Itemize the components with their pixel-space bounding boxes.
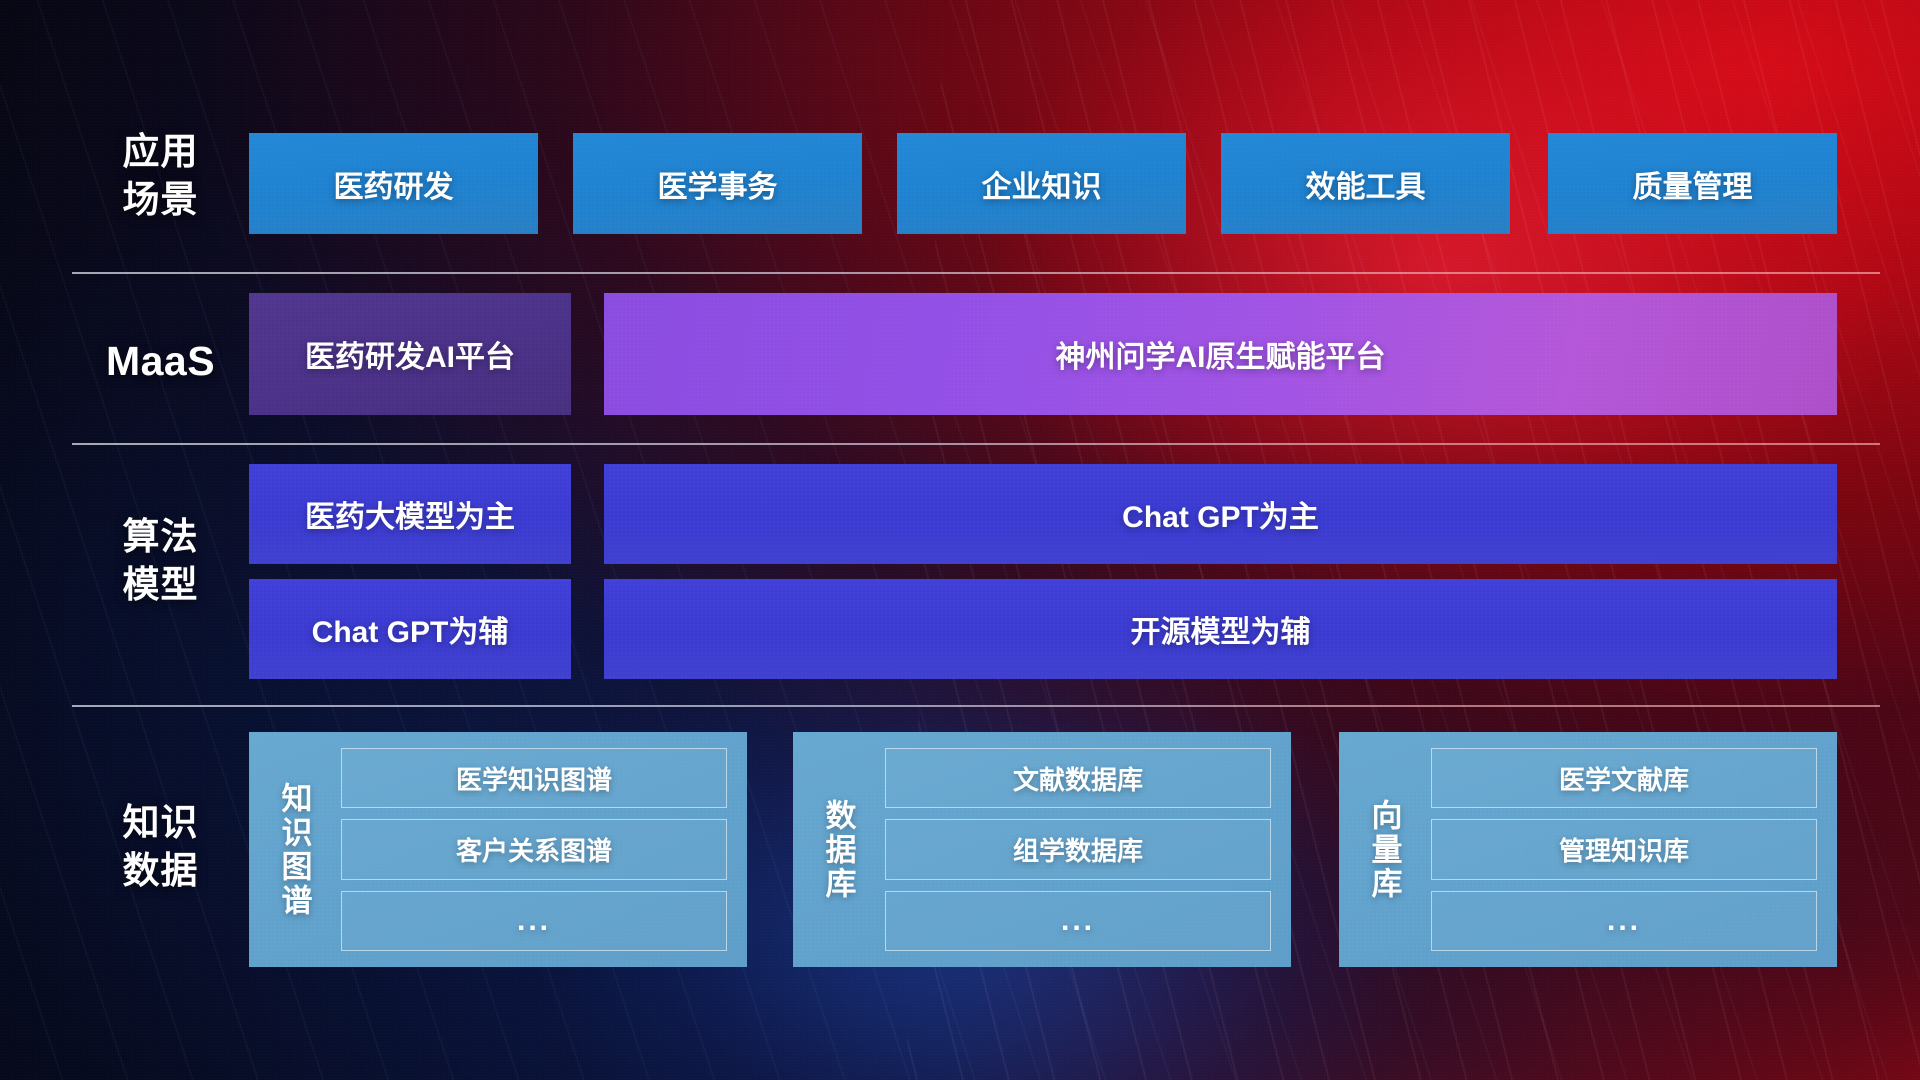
- knowledge-item-omics-database-label: 组学数据库: [1013, 831, 1143, 868]
- algo-card-left-2[interactable]: Chat GPT为辅: [249, 579, 571, 679]
- app-scenario-card-4-label: 效能工具: [1306, 162, 1426, 206]
- divider-3: [72, 705, 1880, 707]
- knowledge-item-management-knowledge-store-label: 管理知识库: [1559, 831, 1689, 868]
- app-scenario-card-3-label: 企业知识: [982, 162, 1102, 206]
- architecture-diagram: 应用 场景 医药研发 医学事务 企业知识 效能工具 质量管理 MaaS 医药研发…: [0, 0, 1920, 1080]
- knowledge-panel-knowledge-graph-items: 医学知识图谱 客户关系图谱 ...: [327, 744, 733, 955]
- divider-2: [72, 443, 1880, 445]
- maas-card-drug-rd-platform[interactable]: 医药研发AI平台: [249, 293, 571, 415]
- knowledge-item-management-knowledge-store[interactable]: 管理知识库: [1431, 819, 1817, 879]
- row-label-maas: MaaS: [78, 335, 243, 388]
- app-scenario-card-4[interactable]: 效能工具: [1221, 133, 1510, 234]
- knowledge-item-more-graph-label: ...: [517, 904, 551, 938]
- row-label-algorithm-models: 算法 模型: [78, 513, 243, 609]
- app-scenario-card-1-label: 医药研发: [334, 162, 454, 206]
- knowledge-item-more-vector[interactable]: ...: [1431, 891, 1817, 951]
- row-label-application-scenarios: 应用 场景: [78, 128, 243, 224]
- knowledge-panel-knowledge-graph-title: 知识图谱: [261, 744, 327, 955]
- algo-card-left-1-label: 医药大模型为主: [305, 492, 515, 536]
- algo-card-right-1[interactable]: Chat GPT为主: [604, 464, 1837, 564]
- knowledge-item-more-database[interactable]: ...: [885, 891, 1271, 951]
- knowledge-item-omics-database[interactable]: 组学数据库: [885, 819, 1271, 879]
- knowledge-item-medical-knowledge-graph[interactable]: 医学知识图谱: [341, 748, 727, 808]
- knowledge-panel-database-title: 数据库: [805, 744, 871, 955]
- divider-1: [72, 272, 1880, 274]
- algo-card-left-1[interactable]: 医药大模型为主: [249, 464, 571, 564]
- row-label-knowledge-data: 知识 数据: [78, 799, 243, 895]
- knowledge-item-medical-literature-store[interactable]: 医学文献库: [1431, 748, 1817, 808]
- knowledge-item-customer-relation-graph-label: 客户关系图谱: [456, 831, 612, 868]
- algo-card-right-2-label: 开源模型为辅: [1131, 607, 1311, 651]
- knowledge-panel-database[interactable]: 数据库 文献数据库 组学数据库 ...: [793, 732, 1291, 967]
- maas-card-shenzhou-platform[interactable]: 神州问学AI原生赋能平台: [604, 293, 1837, 415]
- app-scenario-card-5-label: 质量管理: [1633, 162, 1753, 206]
- app-scenario-card-2-label: 医学事务: [658, 162, 778, 206]
- knowledge-item-medical-literature-store-label: 医学文献库: [1559, 760, 1689, 797]
- knowledge-item-more-vector-label: ...: [1607, 904, 1641, 938]
- knowledge-item-literature-database-label: 文献数据库: [1013, 760, 1143, 797]
- knowledge-panel-database-items: 文献数据库 组学数据库 ...: [871, 744, 1277, 955]
- app-scenario-card-3[interactable]: 企业知识: [897, 133, 1186, 234]
- knowledge-panel-vector-store-title: 向量库: [1351, 744, 1417, 955]
- maas-card-shenzhou-platform-label: 神州问学AI原生赋能平台: [1056, 332, 1386, 376]
- knowledge-panel-vector-store-items: 医学文献库 管理知识库 ...: [1417, 744, 1823, 955]
- knowledge-panel-vector-store[interactable]: 向量库 医学文献库 管理知识库 ...: [1339, 732, 1837, 967]
- algo-card-right-2[interactable]: 开源模型为辅: [604, 579, 1837, 679]
- knowledge-item-customer-relation-graph[interactable]: 客户关系图谱: [341, 819, 727, 879]
- knowledge-panel-knowledge-graph[interactable]: 知识图谱 医学知识图谱 客户关系图谱 ...: [249, 732, 747, 967]
- knowledge-item-more-graph[interactable]: ...: [341, 891, 727, 951]
- knowledge-item-literature-database[interactable]: 文献数据库: [885, 748, 1271, 808]
- algo-card-left-2-label: Chat GPT为辅: [312, 607, 509, 651]
- app-scenario-card-1[interactable]: 医药研发: [249, 133, 538, 234]
- app-scenario-card-5[interactable]: 质量管理: [1548, 133, 1837, 234]
- app-scenario-card-2[interactable]: 医学事务: [573, 133, 862, 234]
- algo-card-right-1-label: Chat GPT为主: [1122, 492, 1319, 536]
- knowledge-item-more-database-label: ...: [1061, 904, 1095, 938]
- maas-card-drug-rd-platform-label: 医药研发AI平台: [305, 332, 515, 376]
- slide-canvas: 应用 场景 医药研发 医学事务 企业知识 效能工具 质量管理 MaaS 医药研发…: [0, 0, 1920, 1080]
- knowledge-item-medical-knowledge-graph-label: 医学知识图谱: [456, 760, 612, 797]
